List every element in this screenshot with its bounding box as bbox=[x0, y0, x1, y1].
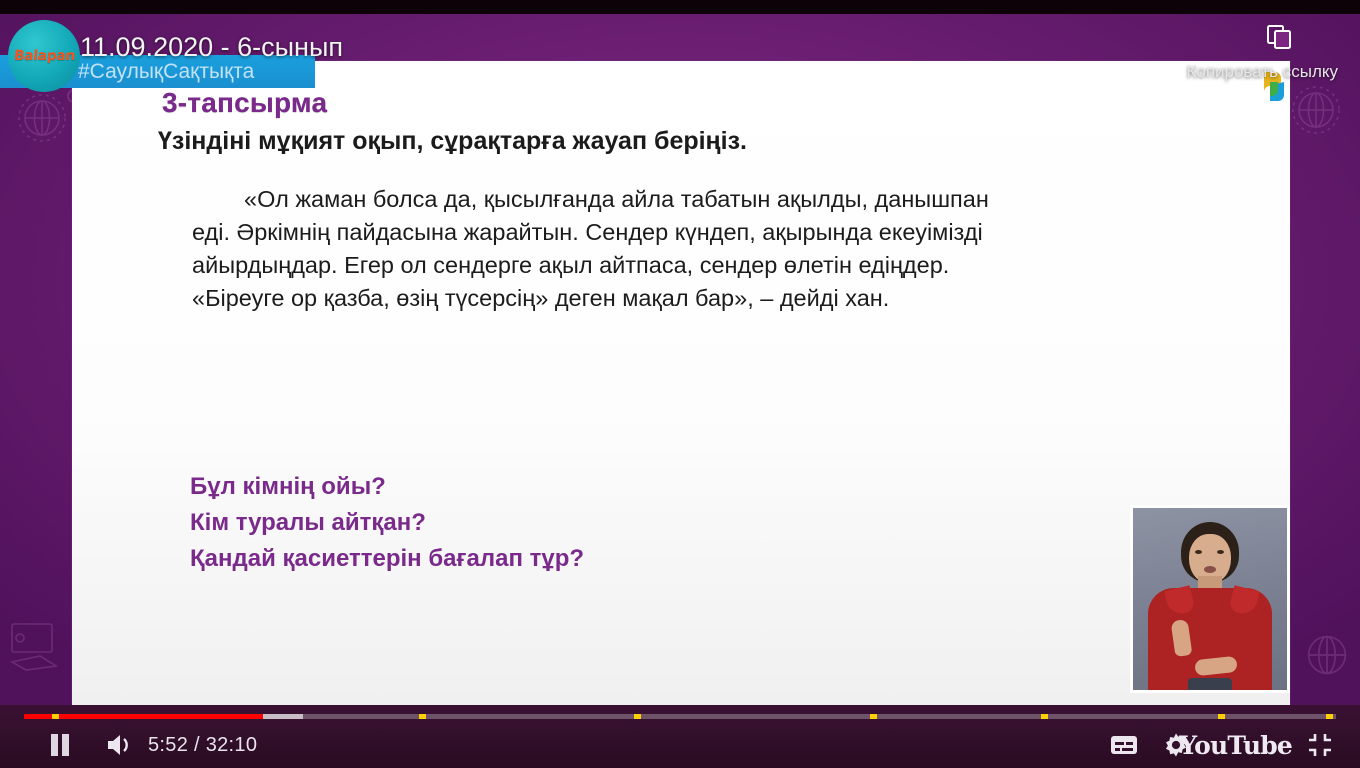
sign-language-video bbox=[1133, 508, 1287, 690]
volume-icon bbox=[105, 732, 135, 758]
letterbox-strip bbox=[0, 0, 1360, 14]
interpreter-eye-right bbox=[1217, 550, 1224, 554]
pause-button[interactable] bbox=[38, 722, 82, 768]
video-frame[interactable]: 3-тапсырма Үзіндіні мұқият оқып, сұрақта… bbox=[0, 0, 1360, 705]
sign-language-inset bbox=[1130, 505, 1290, 693]
globe-watermark-icon bbox=[14, 90, 70, 146]
hashtag-label: #СаулықСақтықта bbox=[78, 60, 254, 84]
progress-bar-row[interactable] bbox=[0, 710, 1360, 722]
progress-played bbox=[24, 714, 263, 719]
presentation-slide: 3-тапсырма Үзіндіні мұқият оқып, сұрақта… bbox=[72, 61, 1290, 705]
channel-logo[interactable]: Balapan bbox=[8, 20, 80, 92]
progress-track[interactable] bbox=[24, 714, 1336, 719]
interpreter-eye-left bbox=[1195, 550, 1202, 554]
chapter-marker bbox=[1218, 714, 1225, 719]
copy-icon bbox=[1264, 22, 1294, 52]
globe-watermark-icon-right bbox=[1288, 82, 1344, 138]
slide-subheading: Үзіндіні мұқият оқып, сұрақтарға жауап б… bbox=[158, 127, 1158, 156]
copy-link-button[interactable] bbox=[1256, 14, 1302, 60]
youtube-watermark[interactable]: YouTube bbox=[1179, 722, 1292, 768]
exit-fullscreen-icon bbox=[1307, 732, 1333, 758]
copy-link-label: Копировать ссылку bbox=[1186, 62, 1338, 82]
chapter-marker bbox=[419, 714, 426, 719]
control-buttons-row: 5:52 / 32:10 YouTube bbox=[0, 722, 1360, 768]
globe-watermark-icon-bottom-right bbox=[1300, 628, 1354, 682]
slide-heading: 3-тапсырма bbox=[162, 87, 327, 119]
chapter-marker bbox=[634, 714, 641, 719]
chapter-marker bbox=[870, 714, 877, 719]
player-controls: 5:52 / 32:10 YouTube bbox=[0, 705, 1360, 768]
subtitles-icon bbox=[1110, 734, 1138, 756]
exit-fullscreen-button[interactable] bbox=[1298, 722, 1342, 768]
chapter-marker bbox=[1041, 714, 1048, 719]
interpreter-chair bbox=[1188, 678, 1232, 690]
slide-body-text: «Ол жаман болса да, қысылғанда айла таба… bbox=[192, 183, 992, 315]
question-item: Кім туралы айтқан? bbox=[190, 505, 1090, 541]
question-item: Қандай қасиеттерін бағалап тұр? bbox=[190, 541, 1090, 577]
slide-questions: Бұл кімнің ойы? Кім туралы айтқан? Қанда… bbox=[190, 469, 1090, 577]
chapter-marker bbox=[52, 714, 59, 719]
subtitles-button[interactable] bbox=[1102, 722, 1146, 768]
video-title: 11.09.2020 - 6-сынып bbox=[80, 32, 343, 63]
volume-button[interactable] bbox=[98, 722, 142, 768]
monitor-watermark-icon bbox=[6, 618, 68, 676]
pause-icon bbox=[49, 733, 71, 757]
interpreter-mouth bbox=[1204, 566, 1216, 573]
question-item: Бұл кімнің ойы? bbox=[190, 469, 1090, 505]
chapter-marker bbox=[1326, 714, 1333, 719]
time-display: 5:52 / 32:10 bbox=[148, 722, 257, 768]
channel-logo-label: Balapan bbox=[13, 48, 75, 64]
youtube-player: 3-тапсырма Үзіндіні мұқият оқып, сұрақта… bbox=[0, 0, 1360, 768]
